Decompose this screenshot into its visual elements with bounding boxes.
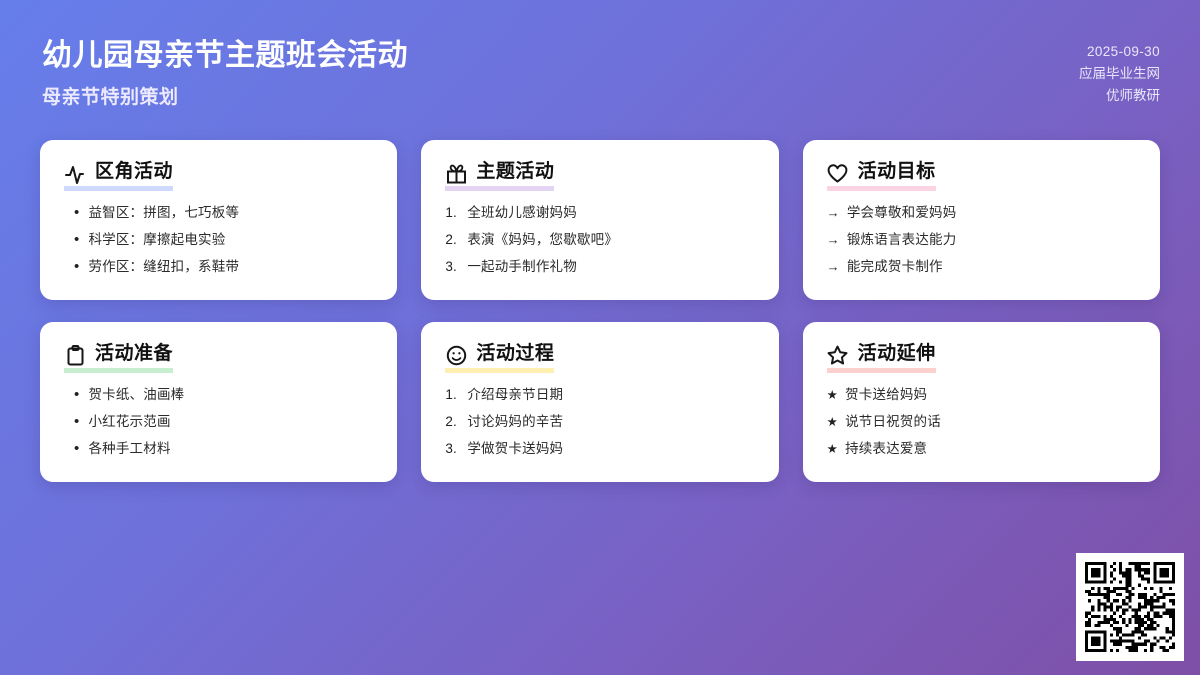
list-item: 3.一起动手制作礼物: [445, 258, 754, 276]
list-item-text: 劳作区：缝纽扣，系鞋带: [88, 258, 239, 276]
list-item-text: 学做贺卡送妈妈: [467, 440, 563, 458]
card-header: 活动目标: [827, 162, 1136, 191]
list-item: 1.介绍母亲节日期: [445, 386, 754, 404]
list-item: 1.全班幼儿感谢妈妈: [445, 204, 754, 222]
header-meta: 2025-09-30 应届毕业生网 优师教研: [1079, 38, 1160, 107]
list-item-text: 持续表达爱意: [845, 440, 927, 458]
card-title: 活动延伸: [858, 344, 936, 367]
list-item: •各种手工材料: [64, 440, 373, 458]
list-item-text: 小红花示范画: [88, 413, 170, 431]
card-title: 活动过程: [476, 344, 554, 367]
list-marker: 3.: [445, 440, 460, 458]
list-marker: •: [74, 441, 79, 456]
list-item-text: 贺卡送给妈妈: [845, 386, 927, 404]
list-item: •小红花示范画: [64, 413, 373, 431]
card-title-underline: 主题活动: [445, 162, 554, 191]
card-list: •益智区：拼图，七巧板等•科学区：摩擦起电实验•劳作区：缝纽扣，系鞋带: [64, 204, 373, 275]
list-item: 2.讨论妈妈的辛苦: [445, 413, 754, 431]
list-marker: •: [74, 414, 79, 429]
card-活动过程: 活动过程1.介绍母亲节日期2.讨论妈妈的辛苦3.学做贺卡送妈妈: [421, 322, 778, 482]
card-grid: 区角活动•益智区：拼图，七巧板等•科学区：摩擦起电实验•劳作区：缝纽扣，系鞋带主…: [40, 140, 1160, 482]
meta-source-secondary: 优师教研: [1079, 85, 1160, 107]
card-header: 活动延伸: [827, 344, 1136, 373]
list-item: 3.学做贺卡送妈妈: [445, 440, 754, 458]
list-item: →能完成贺卡制作: [827, 258, 1136, 276]
list-marker: ★: [827, 441, 838, 458]
list-marker: 2.: [445, 413, 460, 431]
list-item: →锻炼语言表达能力: [827, 231, 1136, 249]
qr-code-image: [1085, 562, 1175, 652]
card-主题活动: 主题活动1.全班幼儿感谢妈妈2.表演《妈妈，您歇歇吧》3.一起动手制作礼物: [421, 140, 778, 300]
card-区角活动: 区角活动•益智区：拼图，七巧板等•科学区：摩擦起电实验•劳作区：缝纽扣，系鞋带: [40, 140, 397, 300]
card-title-underline: 活动过程: [445, 344, 554, 373]
list-item: ★说节日祝贺的话: [827, 413, 1136, 431]
meta-date: 2025-09-30: [1079, 41, 1160, 63]
list-item-text: 一起动手制作礼物: [467, 258, 577, 276]
card-活动目标: 活动目标→学会尊敬和爱妈妈→锻炼语言表达能力→能完成贺卡制作: [803, 140, 1160, 300]
card-header: 活动准备: [64, 344, 373, 373]
clipboard-icon: [64, 344, 86, 366]
list-item-text: 各种手工材料: [88, 440, 170, 458]
list-marker: 1.: [445, 204, 460, 222]
list-item-text: 说节日祝贺的话: [845, 413, 941, 431]
card-list: •贺卡纸、油画棒•小红花示范画•各种手工材料: [64, 386, 373, 457]
list-marker: •: [74, 232, 79, 247]
card-title: 活动准备: [95, 344, 173, 367]
card-title-underline: 活动目标: [827, 162, 936, 191]
list-item: ★持续表达爱意: [827, 440, 1136, 458]
card-list: ★贺卡送给妈妈★说节日祝贺的话★持续表达爱意: [827, 386, 1136, 457]
activity-pulse-icon: [64, 162, 86, 184]
list-item-text: 全班幼儿感谢妈妈: [467, 204, 577, 222]
card-title: 区角活动: [95, 162, 173, 185]
list-item: →学会尊敬和爱妈妈: [827, 204, 1136, 222]
list-marker: •: [74, 205, 79, 220]
star-icon: [827, 344, 849, 366]
list-item-text: 介绍母亲节日期: [467, 386, 563, 404]
smiley-icon: [445, 344, 467, 366]
list-item: •贺卡纸、油画棒: [64, 386, 373, 404]
card-活动准备: 活动准备•贺卡纸、油画棒•小红花示范画•各种手工材料: [40, 322, 397, 482]
slide-root: 幼儿园母亲节主题班会活动 母亲节特别策划 2025-09-30 应届毕业生网 优…: [0, 0, 1200, 675]
list-marker: •: [74, 387, 79, 402]
list-item: ★贺卡送给妈妈: [827, 386, 1136, 404]
meta-source-primary: 应届毕业生网: [1079, 63, 1160, 85]
list-item: 2.表演《妈妈，您歇歇吧》: [445, 231, 754, 249]
list-item-text: 学会尊敬和爱妈妈: [847, 204, 957, 222]
list-item-text: 讨论妈妈的辛苦: [467, 413, 563, 431]
list-marker: →: [827, 258, 840, 275]
list-marker: ★: [827, 414, 838, 431]
list-item-text: 锻炼语言表达能力: [847, 231, 957, 249]
card-title: 主题活动: [476, 162, 554, 185]
card-list: →学会尊敬和爱妈妈→锻炼语言表达能力→能完成贺卡制作: [827, 204, 1136, 275]
page-subtitle: 母亲节特别策划: [42, 82, 408, 109]
card-title-underline: 区角活动: [64, 162, 173, 191]
list-marker: 3.: [445, 258, 460, 276]
card-活动延伸: 活动延伸★贺卡送给妈妈★说节日祝贺的话★持续表达爱意: [803, 322, 1160, 482]
page-title: 幼儿园母亲节主题班会活动: [42, 38, 408, 75]
card-header: 活动过程: [445, 344, 754, 373]
card-title-underline: 活动延伸: [827, 344, 936, 373]
list-marker: 1.: [445, 386, 460, 404]
card-header: 区角活动: [64, 162, 373, 191]
list-marker: ★: [827, 387, 838, 404]
list-item: •科学区：摩擦起电实验: [64, 231, 373, 249]
qr-code[interactable]: [1076, 553, 1184, 661]
slide-header: 幼儿园母亲节主题班会活动 母亲节特别策划 2025-09-30 应届毕业生网 优…: [40, 38, 1160, 120]
card-title: 活动目标: [858, 162, 936, 185]
list-item-text: 能完成贺卡制作: [847, 258, 943, 276]
list-marker: →: [827, 231, 840, 248]
list-marker: •: [74, 259, 79, 274]
card-list: 1.全班幼儿感谢妈妈2.表演《妈妈，您歇歇吧》3.一起动手制作礼物: [445, 204, 754, 275]
list-marker: 2.: [445, 231, 460, 249]
list-item-text: 贺卡纸、油画棒: [88, 386, 184, 404]
gift-icon: [445, 162, 467, 184]
header-title-block: 幼儿园母亲节主题班会活动 母亲节特别策划: [40, 38, 408, 109]
card-title-underline: 活动准备: [64, 344, 173, 373]
card-header: 主题活动: [445, 162, 754, 191]
list-item-text: 表演《妈妈，您歇歇吧》: [467, 231, 618, 249]
list-marker: →: [827, 204, 840, 221]
heart-icon: [827, 162, 849, 184]
list-item: •益智区：拼图，七巧板等: [64, 204, 373, 222]
list-item: •劳作区：缝纽扣，系鞋带: [64, 258, 373, 276]
list-item-text: 科学区：摩擦起电实验: [88, 231, 225, 249]
card-list: 1.介绍母亲节日期2.讨论妈妈的辛苦3.学做贺卡送妈妈: [445, 386, 754, 457]
list-item-text: 益智区：拼图，七巧板等: [88, 204, 239, 222]
